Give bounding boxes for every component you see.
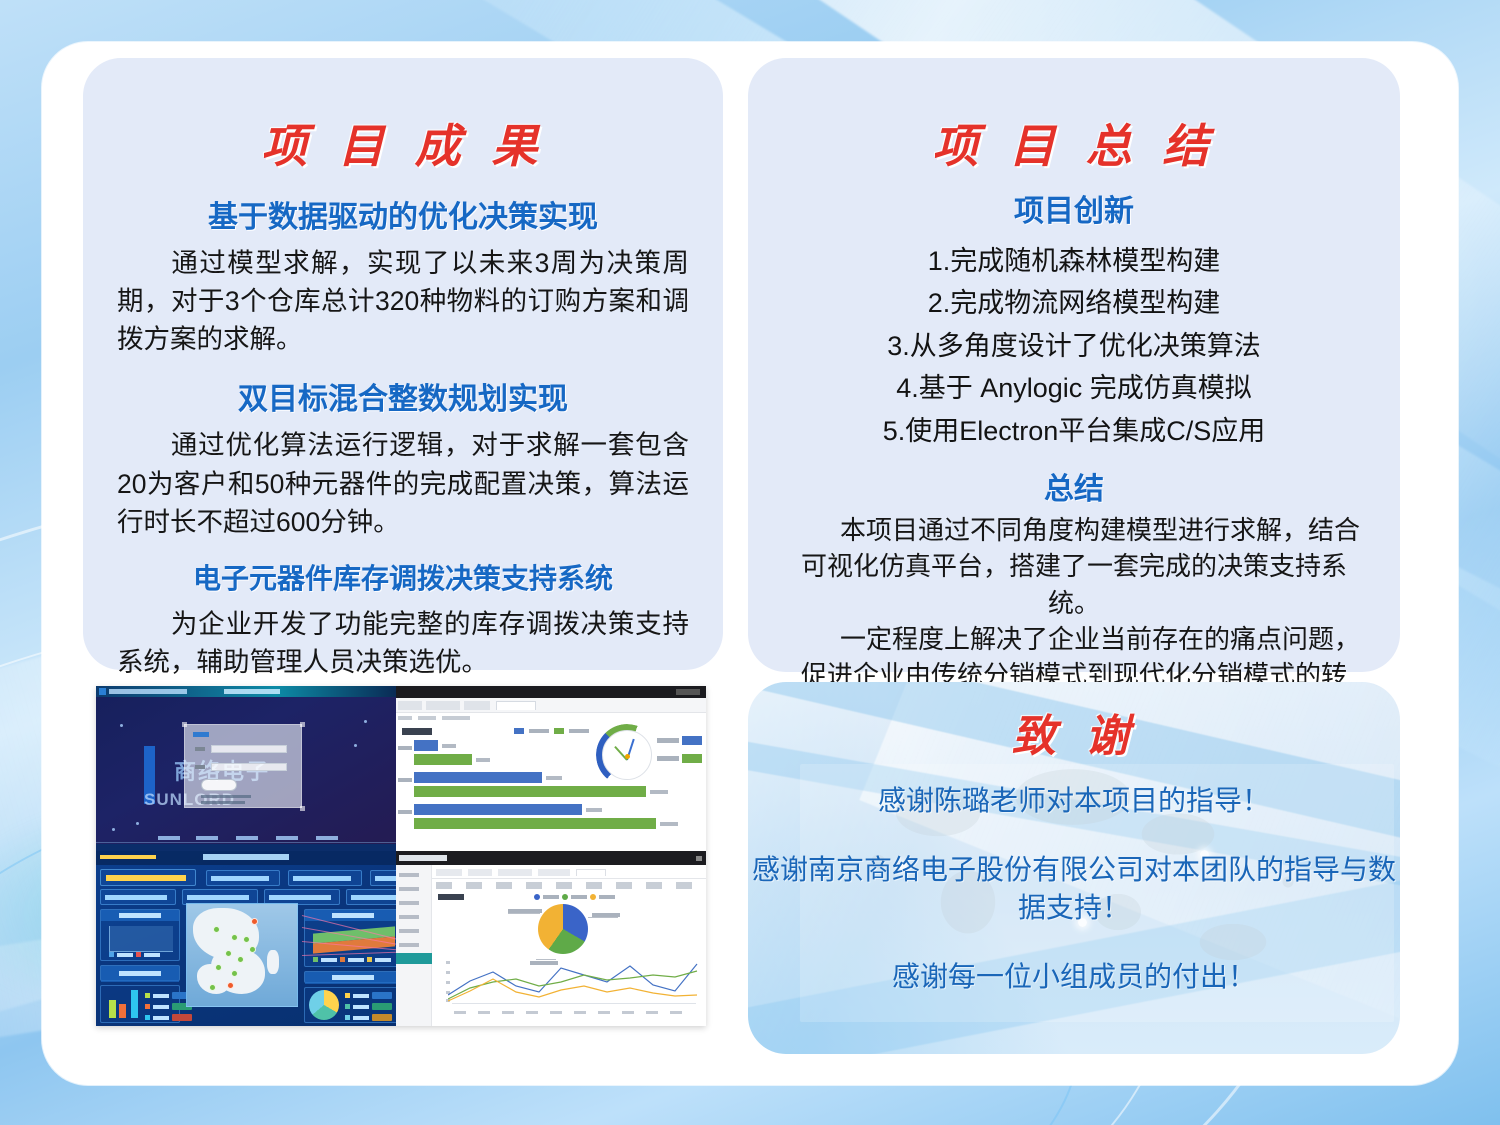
bar-value-label xyxy=(546,776,562,780)
password-label xyxy=(195,765,205,769)
screenshot-analysis-dashboard xyxy=(396,851,706,1026)
sidebar-item[interactable] xyxy=(399,929,419,933)
list-item: 4.基于 Anylogic 完成仿真模拟 xyxy=(788,367,1360,409)
legend-label xyxy=(599,895,615,899)
section-heading-data-driven: 基于数据驱动的优化决策实现 xyxy=(117,192,689,236)
gauge-hub xyxy=(625,754,630,759)
map-pin xyxy=(231,970,238,977)
bar-value-label xyxy=(660,822,678,826)
breadcrumb xyxy=(418,716,436,720)
sidebar-item[interactable] xyxy=(399,915,419,919)
legend-dot xyxy=(562,894,568,900)
pie-leader-line xyxy=(588,917,618,918)
decorative-star xyxy=(112,828,115,831)
card-header xyxy=(101,966,179,982)
window-controls[interactable] xyxy=(696,856,702,861)
list-item: 1.完成随机森林模型构建 xyxy=(788,240,1360,282)
gauge-kpi-row xyxy=(657,736,702,745)
map-pin xyxy=(249,946,256,953)
tab-item[interactable] xyxy=(468,869,492,876)
window-controls[interactable] xyxy=(676,689,700,695)
helper-text xyxy=(201,795,251,798)
kpi-value-badge xyxy=(682,754,702,763)
line-series-forecast xyxy=(448,964,697,995)
mini-bar xyxy=(119,1004,126,1018)
kpi-value-badge xyxy=(682,736,702,745)
kpi-label xyxy=(657,756,679,761)
tab-item[interactable] xyxy=(426,701,460,710)
tab-item[interactable] xyxy=(464,701,490,710)
map-pin-alert xyxy=(251,918,258,925)
app-logo-icon xyxy=(99,688,106,695)
x-axis-tick xyxy=(622,1011,634,1014)
table-header-row xyxy=(436,882,702,889)
map-pin xyxy=(225,950,232,957)
viz-title xyxy=(203,854,289,860)
area-chart xyxy=(109,926,173,952)
map-pin xyxy=(209,984,216,991)
screenshot-login-screen: 商络电子 SUNLORD xyxy=(96,686,396,851)
bar-value-label xyxy=(586,808,602,812)
chart-legend xyxy=(514,728,589,734)
legend-row xyxy=(345,1003,392,1010)
x-axis-tick xyxy=(574,1011,586,1014)
sidebar-item[interactable] xyxy=(399,873,419,877)
legend-swatch-order xyxy=(514,728,524,734)
line-series-error xyxy=(448,979,697,1001)
pie-slice-label xyxy=(508,909,542,913)
window-titlebar xyxy=(396,851,706,865)
category-label xyxy=(398,810,412,814)
footer-bar xyxy=(96,844,396,851)
footer-link[interactable] xyxy=(276,836,298,840)
viz-right-chart-card xyxy=(304,909,396,967)
pie-chart xyxy=(538,904,588,954)
project-results-title: 项 目 成 果 xyxy=(83,58,723,176)
pie-slice-label xyxy=(592,913,620,917)
sidebar-nav xyxy=(396,865,432,1026)
bar-order-1 xyxy=(414,740,438,751)
viz-bar-card xyxy=(100,985,180,1023)
viz-left-chart-card xyxy=(100,909,180,961)
bar-value-label xyxy=(442,744,456,748)
app-title-text xyxy=(109,689,187,694)
legend-row xyxy=(345,992,392,999)
innovation-list: 1.完成随机森林模型构建 2.完成物流网络模型构建 3.从多角度设计了优化决策算… xyxy=(788,240,1360,452)
window-titlebar xyxy=(396,686,706,698)
bar-order-3 xyxy=(414,804,582,815)
bar-value-label xyxy=(476,758,490,762)
username-input[interactable] xyxy=(211,745,287,753)
x-axis-tick xyxy=(454,1011,466,1014)
tab-strip xyxy=(396,698,706,713)
legend-row xyxy=(345,1014,392,1021)
login-dialog xyxy=(184,724,302,808)
list-item: 2.完成物流网络模型构建 xyxy=(788,282,1360,324)
legend-label xyxy=(144,953,160,957)
line-chart xyxy=(448,959,698,1004)
footer-link[interactable] xyxy=(196,836,218,840)
tab-item-active[interactable] xyxy=(576,869,606,876)
x-axis-tick xyxy=(598,1011,610,1014)
legend-swatch xyxy=(109,952,114,957)
system-screenshots-collage: 商络电子 SUNLORD xyxy=(96,686,706,1026)
project-summary-panel: 项 目 总 结 项目创新 1.完成随机森林模型构建 2.完成物流网络模型构建 3… xyxy=(748,58,1400,672)
thanks-line: 感谢南京商络电子股份有限公司对本团队的指导与数据支持！ xyxy=(748,851,1400,928)
map-pin xyxy=(215,964,222,971)
tab-item[interactable] xyxy=(538,869,570,876)
chart-legend-row xyxy=(109,952,160,957)
legend-dot xyxy=(590,894,596,900)
legend-row xyxy=(313,957,391,962)
breadcrumb xyxy=(442,716,470,720)
acknowledgements-text: 感谢陈璐老师对本项目的指导！ 感谢南京商络电子股份有限公司对本团队的指导与数据支… xyxy=(748,764,1400,997)
kpi-label xyxy=(657,738,679,743)
category-label xyxy=(398,778,412,782)
legend-label-order xyxy=(529,729,549,733)
summary-heading: 总结 xyxy=(788,464,1360,508)
tab-item[interactable] xyxy=(398,701,422,710)
pie-leader-line xyxy=(508,913,540,914)
bar-order-2 xyxy=(414,772,542,783)
username-label xyxy=(195,747,205,751)
resize-handle[interactable] xyxy=(182,722,187,727)
section-body-data-driven: 通过模型求解，实现了以未来3周为决策周期，对于3个仓库总计320种物料的订购方案… xyxy=(117,244,689,358)
x-axis-tick xyxy=(670,1011,682,1014)
pie-chart xyxy=(309,990,339,1020)
section-heading-support-system: 电子元器件库存调拨决策支持系统 xyxy=(117,557,689,597)
breadcrumb xyxy=(398,716,412,720)
tab-item[interactable] xyxy=(498,869,532,876)
thanks-line: 感谢陈璐老师对本项目的指导！ xyxy=(748,782,1400,821)
password-input[interactable] xyxy=(211,763,287,771)
legend-row xyxy=(145,992,192,999)
footer-link[interactable] xyxy=(236,836,258,840)
x-axis-tick xyxy=(526,1011,538,1014)
list-item: 5.使用Electron平台集成C/S应用 xyxy=(788,410,1360,452)
chart-title xyxy=(438,894,464,900)
innovation-heading: 项目创新 xyxy=(788,186,1360,230)
login-dialog-title xyxy=(193,732,209,737)
viz-pie-card xyxy=(304,987,396,1023)
tab-strip xyxy=(432,865,706,879)
section-heading-bi-objective: 双目标混合整数规划实现 xyxy=(117,374,689,418)
landmass-taiwan xyxy=(267,950,279,974)
project-summary-title: 项 目 总 结 xyxy=(748,58,1400,176)
resize-handle[interactable] xyxy=(300,722,305,727)
sidebar-item-active[interactable] xyxy=(396,953,432,964)
sidebar-item[interactable] xyxy=(399,901,419,905)
map-pin xyxy=(213,926,220,933)
viz-datetime xyxy=(100,855,156,859)
decorative-star xyxy=(364,720,367,723)
footer-link[interactable] xyxy=(158,836,180,840)
legend-row xyxy=(145,1014,192,1021)
legend-dot xyxy=(534,894,540,900)
tab-item-active[interactable] xyxy=(496,701,536,710)
app-title-text xyxy=(399,855,447,861)
x-axis-tick xyxy=(478,1011,490,1014)
decorative-star xyxy=(136,822,139,825)
legend-swatch xyxy=(136,952,141,957)
card-header xyxy=(305,972,396,984)
card-header xyxy=(101,910,179,921)
legend-label-transfer xyxy=(569,729,589,733)
list-item: 3.从多角度设计了优化决策算法 xyxy=(788,325,1360,367)
map-pin xyxy=(237,956,244,963)
gauge-kpi-row xyxy=(657,754,702,763)
kpi-card xyxy=(288,870,362,886)
tab-item[interactable] xyxy=(436,869,462,876)
mini-bar xyxy=(109,1000,116,1018)
resize-handle[interactable] xyxy=(300,806,305,811)
section-body-support-system: 为企业开发了功能完整的库存调拨决策支持系统，辅助管理人员决策选优。 xyxy=(117,605,689,681)
bar-value-label xyxy=(650,790,668,794)
welcome-text xyxy=(224,689,280,694)
map-pin-alert xyxy=(227,982,234,989)
legend-label xyxy=(543,895,559,899)
acknowledgements-panel: 致 谢 感谢陈璐老师对本项目的指导！ 感谢南京商络电子股份有限公司对本团队的指导… xyxy=(748,682,1400,1054)
helper-text xyxy=(201,801,245,804)
screenshot-bar-dashboard xyxy=(396,686,706,851)
chart-title xyxy=(402,728,432,735)
section-body-bi-objective: 通过优化算法运行逻辑，对于求解一套包含20为客户和50种元器件的完成配置决策，算… xyxy=(117,426,689,540)
x-axis-tick xyxy=(550,1011,562,1014)
kpi-card xyxy=(370,870,396,886)
kpi-card xyxy=(100,889,176,905)
map-pin xyxy=(231,934,238,941)
total-cost-kpi xyxy=(100,869,196,886)
viz-subtitle-card xyxy=(100,965,180,981)
footer-divider xyxy=(96,842,396,843)
bar-transfer-2 xyxy=(414,786,646,797)
legend-swatch-transfer xyxy=(554,728,564,734)
footer-link[interactable] xyxy=(316,836,338,840)
sidebar-item[interactable] xyxy=(399,887,419,891)
bar-transfer-1 xyxy=(414,754,472,765)
map-pin xyxy=(243,936,250,943)
viz-subtitle-card-2 xyxy=(304,971,396,983)
decorative-star xyxy=(120,724,123,727)
category-label xyxy=(398,746,412,750)
china-map-chart xyxy=(186,903,298,1007)
acknowledgements-title: 致 谢 xyxy=(748,682,1400,764)
project-results-panel: 项 目 成 果 基于数据驱动的优化决策实现 通过模型求解，实现了以未来3周为决策… xyxy=(83,58,723,670)
legend-row xyxy=(145,1003,192,1010)
legend-label xyxy=(571,895,587,899)
legend-label xyxy=(117,953,133,957)
summary-paragraph-1: 本项目通过不同角度构建模型进行求解，结合可视化仿真平台，搭建了一套完成的决策支持… xyxy=(788,512,1360,621)
screenshot-big-screen-visualization xyxy=(96,851,396,1026)
x-axis-tick xyxy=(646,1011,658,1014)
thanks-line: 感谢每一位小组成员的付出！ xyxy=(748,958,1400,997)
sidebar-item[interactable] xyxy=(399,943,419,947)
chart-legend xyxy=(534,894,615,900)
decorative-star xyxy=(354,744,357,747)
x-axis-tick xyxy=(502,1011,514,1014)
kpi-card xyxy=(346,889,396,905)
mini-bar xyxy=(131,990,138,1018)
login-button[interactable] xyxy=(201,779,237,791)
kpi-card xyxy=(206,870,280,886)
bar-transfer-3 xyxy=(414,818,656,829)
